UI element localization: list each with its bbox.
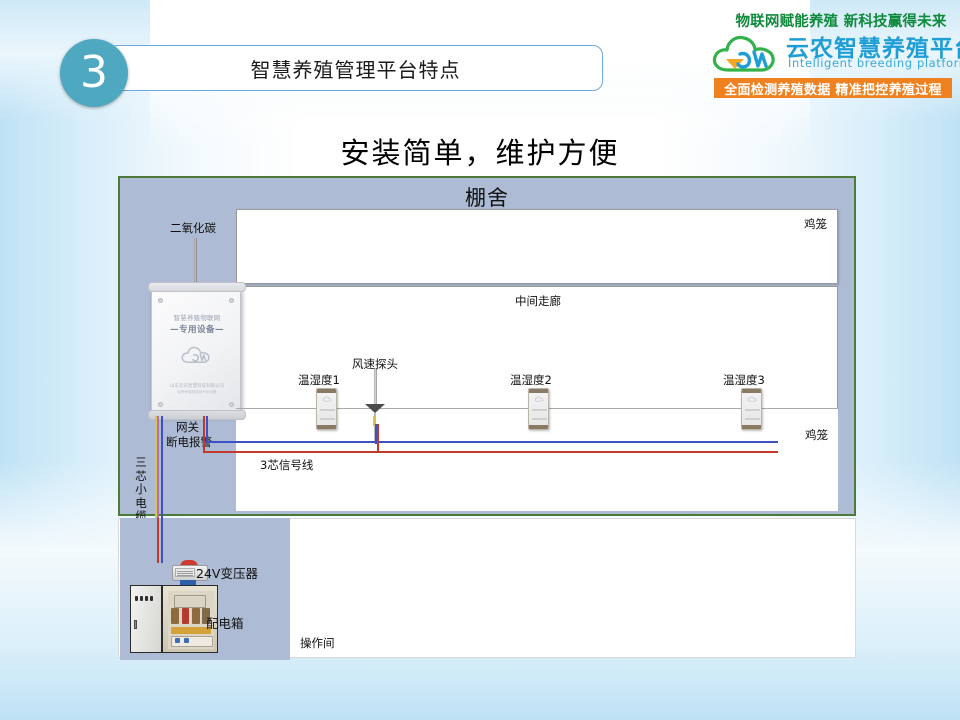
cloud-logo-icon <box>180 345 214 365</box>
shed-title-label: 棚舍 <box>118 182 856 212</box>
gateway-device: 智慧养殖物联网 —专用设备— 山东云农智慧科技有限公司 智慧养殖物联网专用设备 <box>151 286 241 416</box>
signal-line-red-run <box>203 451 778 453</box>
cage-bottom-label: 鸡笼 <box>805 427 828 443</box>
gateway-screw <box>158 298 163 303</box>
signal-line-red-drop <box>203 416 205 452</box>
sensor-cap <box>529 389 548 393</box>
gateway-subcompany-text: 智慧养殖物联网专用设备 <box>152 390 242 395</box>
signal-line-label: 3芯信号线 <box>260 457 313 473</box>
temp-humidity-sensor <box>528 388 549 430</box>
sensor-text-line <box>320 418 335 420</box>
installation-diagram: 棚舍 鸡笼 中间走廊 鸡笼 二氧化碳 智慧养殖物联网 —专用设备— 山东云农智慧… <box>118 176 856 516</box>
transformer-label: 24V变压器 <box>196 563 258 582</box>
gateway-top-lip <box>148 282 246 292</box>
gateway-company-text: 山东云农智慧科技有限公司 <box>152 383 242 389</box>
brand-logo-block: 物联网赋能养殖 新科技赢得未来 云农智慧养殖平台 Intelligent bre… <box>706 8 952 100</box>
slide-subtitle: 安装简单，维护方便 <box>0 130 960 172</box>
slide-header-pill: 智慧养殖管理平台特点 <box>108 45 603 91</box>
sensor-text-line <box>745 409 760 411</box>
cabinet-breaker-top <box>174 595 206 608</box>
sensor-text-line <box>320 409 335 411</box>
brand-name-en: Intelligent breeding platform <box>788 56 960 70</box>
co2-probe-rod <box>194 238 197 288</box>
distribution-cabinet <box>130 585 218 653</box>
transformer-faceplate <box>175 568 195 577</box>
cabinet-label: 配电箱 <box>206 613 244 632</box>
brand-tagline: 物联网赋能养殖 新科技赢得未来 <box>730 10 952 31</box>
wind-probe-cone <box>365 404 385 413</box>
temp-humidity-sensor <box>316 388 337 430</box>
sensor-base <box>529 425 548 429</box>
room-cable-blue <box>161 518 163 563</box>
sensor-base <box>742 425 761 429</box>
sensor-text-line <box>745 418 760 420</box>
co2-probe-label: 二氧化碳 <box>170 220 216 236</box>
operation-room-label: 操作间 <box>300 635 335 651</box>
brand-name-row: 云农智慧养殖平台 Intelligent breeding platform <box>706 30 952 78</box>
temp-humidity-sensor-label: 温湿度1 <box>298 372 340 388</box>
wind-probe-label: 风速探头 <box>352 356 398 372</box>
cabinet-switch <box>175 638 180 643</box>
sensor-cap <box>317 389 336 393</box>
cloud-logo-icon <box>747 396 758 402</box>
temp-humidity-sensor <box>741 388 762 430</box>
gateway-screw <box>229 298 234 303</box>
signal-line-blue-run <box>206 441 778 443</box>
sensor-text-line <box>532 409 547 411</box>
cabinet-door <box>130 585 162 653</box>
cage-top-label: 鸡笼 <box>804 216 827 232</box>
cabinet-switch <box>184 638 189 643</box>
cabinet-terminal <box>192 608 200 624</box>
cloud-logo-icon <box>322 396 333 402</box>
three-core-cable-label: 三芯小电缆 <box>135 456 147 524</box>
temp-humidity-sensor-label: 温湿度2 <box>510 372 552 388</box>
wind-probe-pole <box>374 368 377 408</box>
sensor-base <box>317 425 336 429</box>
cloud-logo-icon <box>534 396 545 402</box>
room-cable-red <box>157 518 159 563</box>
cloud-logo-icon <box>710 32 784 76</box>
gateway-text-line1: 智慧养殖物联网 <box>152 313 242 322</box>
signal-line-blue-drop <box>206 416 208 442</box>
cabinet-terminal <box>171 608 179 624</box>
sensor-text-line <box>532 418 547 420</box>
cabinet-busbar <box>171 627 211 634</box>
wind-probe-wire-red <box>377 424 379 452</box>
cabinet-handle <box>134 620 137 629</box>
cage-top-area: 鸡笼 <box>236 209 838 284</box>
temp-humidity-sensor-label: 温湿度3 <box>723 372 765 388</box>
gateway-label: 网关 <box>176 419 199 435</box>
step-number-label: 3 <box>80 51 108 95</box>
gateway-text-line2: —专用设备— <box>152 323 242 335</box>
sensor-cap <box>742 389 761 393</box>
gateway-screw <box>158 402 163 407</box>
brand-bottom-bar: 全面检测养殖数据 精准把控养殖过程 <box>714 78 952 98</box>
gateway-screw <box>229 402 234 407</box>
cabinet-hinges <box>135 596 155 601</box>
page-title: 智慧养殖管理平台特点 <box>109 46 602 90</box>
cabinet-terminal <box>182 608 189 624</box>
step-number-badge: 3 <box>60 39 128 107</box>
corridor-label: 中间走廊 <box>237 293 839 309</box>
